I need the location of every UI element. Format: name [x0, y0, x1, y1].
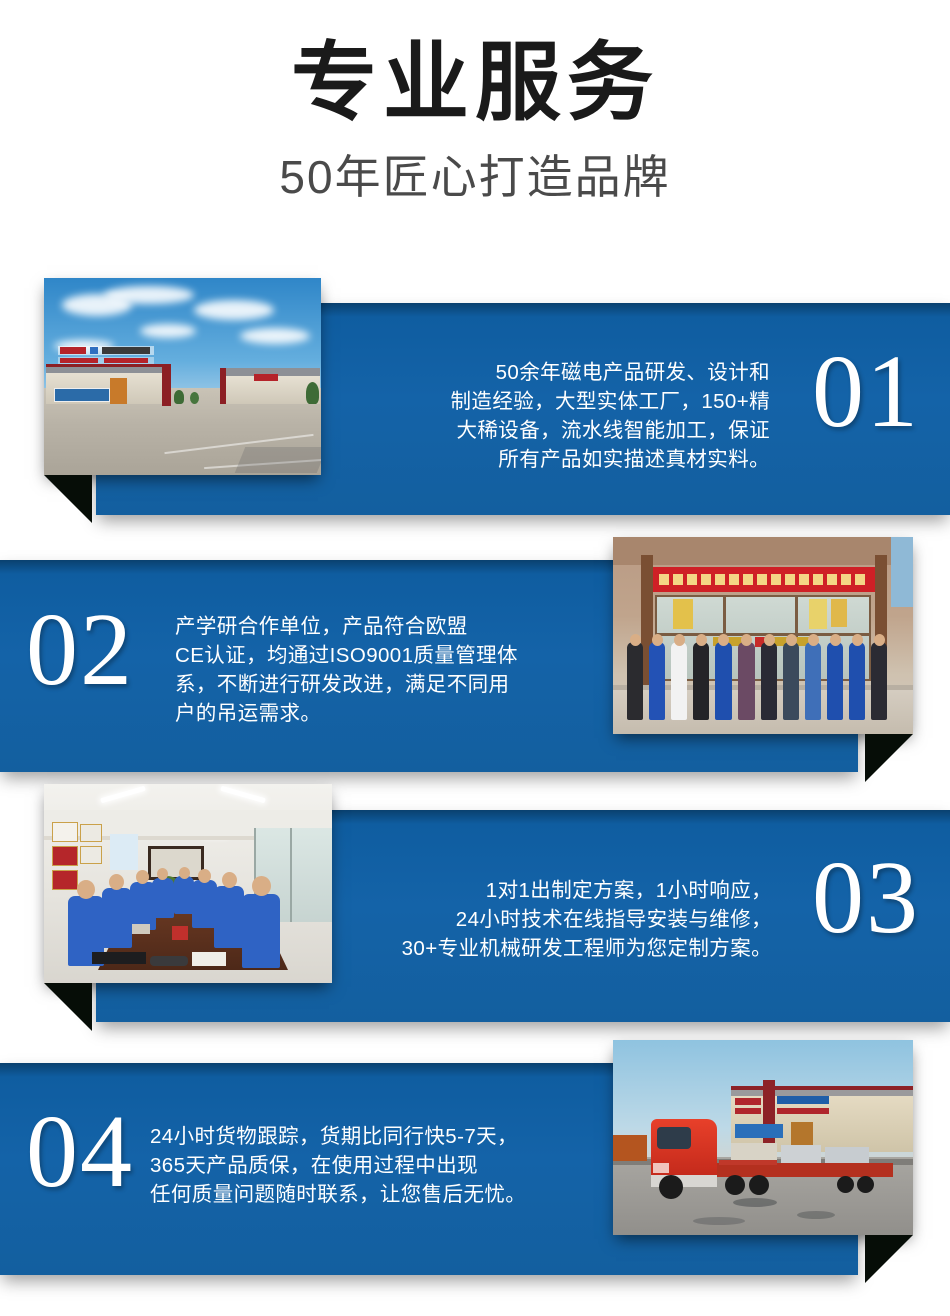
- card-03-fold-shadow: [44, 983, 92, 1031]
- card-04-text: 24小时货物跟踪，货期比同行快5-7天， 365天产品质保，在使用过程中出现 任…: [150, 1122, 580, 1209]
- card-04-number: 04: [26, 1100, 134, 1204]
- card-04-image: [613, 1040, 913, 1235]
- card-02-image: [613, 537, 913, 734]
- card-03-text: 1对1出制定方案，1小时响应， 24小时技术在线指导安装与维修， 30+专业机械…: [356, 876, 772, 963]
- page-subtitle: 50年匠心打造品牌: [0, 126, 950, 200]
- promo-page: 专业服务 50年匠心打造品牌 01 50余年磁电产品研发、设计和 制造经验，大型…: [0, 0, 950, 1316]
- card-02-number: 02: [26, 598, 134, 702]
- card-01-number: 01: [812, 340, 920, 444]
- card-04-fold-shadow: [865, 1235, 913, 1283]
- card-03-image: [44, 784, 332, 983]
- card-01-text: 50余年磁电产品研发、设计和 制造经验，大型实体工厂，150+精 大稀设备，流水…: [370, 358, 770, 474]
- card-03-number: 03: [812, 846, 920, 950]
- card-01-image: [44, 278, 321, 475]
- page-title: 专业服务: [0, 0, 950, 126]
- card-02-fold-shadow: [865, 734, 913, 782]
- page-header: 专业服务 50年匠心打造品牌: [0, 0, 950, 200]
- card-02-text: 产学研合作单位，产品符合欧盟 CE认证，均通过ISO9001质量管理体 系，不断…: [175, 612, 575, 728]
- card-01-fold-shadow: [44, 475, 92, 523]
